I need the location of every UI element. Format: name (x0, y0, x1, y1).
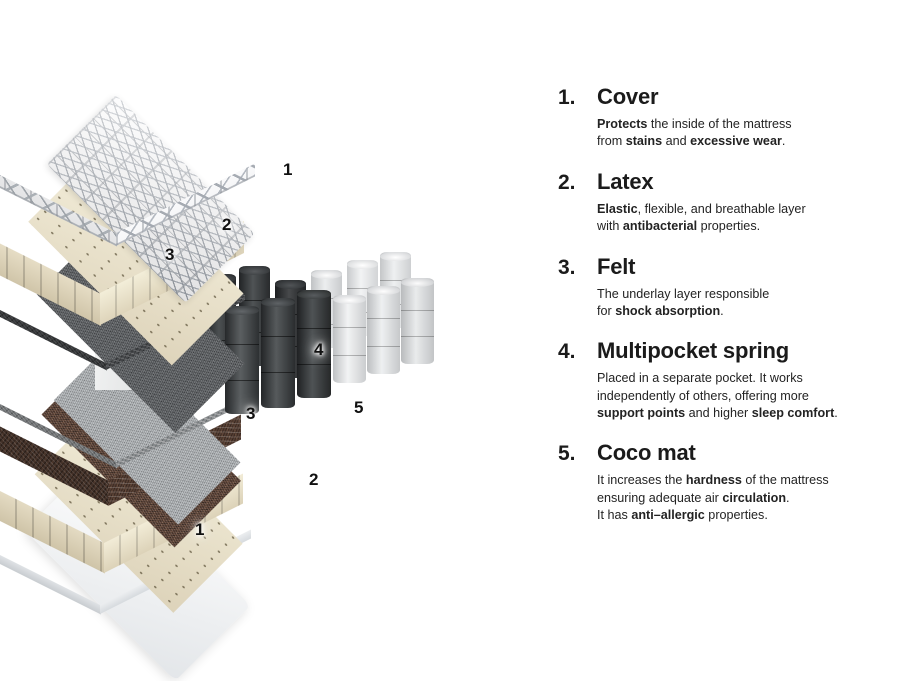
callout-3-felt-upper: 3 (165, 245, 174, 265)
legend-item-multipocket-spring-index: 4. (558, 340, 597, 364)
legend-item-felt-desc: The underlay layer responsiblefor shock … (597, 286, 898, 321)
legend-list: 1. Cover Protects the inside of the matt… (558, 84, 898, 543)
legend-item-latex-desc: Elastic, flexible, and breathable layerw… (597, 201, 898, 236)
callout-2-latex-top: 2 (222, 215, 231, 235)
legend-item-latex: 2. Latex Elastic, flexible, and breathab… (558, 169, 898, 236)
legend-item-latex-title: Latex (597, 169, 653, 195)
spring-unit (367, 286, 400, 374)
legend-item-cover-head: 1. Cover (558, 84, 898, 110)
legend-item-multipocket-spring-title: Multipocket spring (597, 338, 789, 364)
legend-item-coco-mat-title: Coco mat (597, 440, 696, 466)
callout-1-cover-top: 1 (283, 160, 292, 180)
illustration-stage: 1 2 3 4 3 5 2 1 1. Cover Protects the in… (0, 0, 900, 675)
legend-item-cover: 1. Cover Protects the inside of the matt… (558, 84, 898, 151)
legend-item-coco-mat: 5. Coco mat It increases the hardness of… (558, 440, 898, 524)
legend-item-latex-index: 2. (558, 171, 597, 195)
legend-item-felt-title: Felt (597, 254, 635, 280)
legend-item-felt: 3. Felt The underlay layer responsiblefo… (558, 254, 898, 321)
callout-1-cover-bottom: 1 (195, 520, 204, 540)
callout-3-felt-lower: 3 (246, 404, 255, 424)
callout-5-coco-mat: 5 (354, 398, 363, 418)
layer-cover-top (116, 95, 312, 291)
legend-item-latex-head: 2. Latex (558, 169, 898, 195)
callout-4-spring-core: 4 (314, 340, 323, 360)
legend-item-coco-mat-head: 5. Coco mat (558, 440, 898, 466)
legend-item-felt-head: 3. Felt (558, 254, 898, 280)
legend-item-cover-title: Cover (597, 84, 658, 110)
spring-unit (333, 295, 366, 383)
legend-item-felt-index: 3. (558, 256, 597, 280)
legend-item-coco-mat-index: 5. (558, 442, 597, 466)
legend-item-coco-mat-desc: It increases the hardness of the mattres… (597, 472, 898, 524)
mattress-exploded-diagram: 1 2 3 4 3 5 2 1 (0, 0, 520, 675)
legend-item-multipocket-spring: 4. Multipocket spring Placed in a separa… (558, 338, 898, 422)
spring-unit (401, 278, 434, 364)
legend-item-multipocket-spring-desc: Placed in a separate pocket. It worksind… (597, 370, 898, 422)
legend-item-cover-index: 1. (558, 86, 597, 110)
callout-2-latex-bottom: 2 (309, 470, 318, 490)
legend-item-multipocket-spring-head: 4. Multipocket spring (558, 338, 898, 364)
legend-item-cover-desc: Protects the inside of the mattressfrom … (597, 116, 898, 151)
